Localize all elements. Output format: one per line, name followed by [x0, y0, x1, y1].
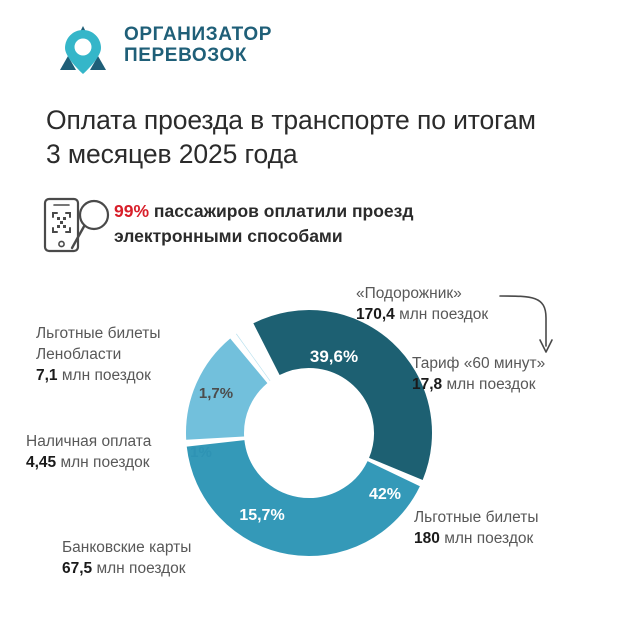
phone-qr-scan-icon: [42, 196, 114, 254]
segment-label-bankovskie-karty: 15,7%: [239, 507, 284, 524]
callout-bankovskie-karty: Банковские карты 67,5 млн поездок: [62, 538, 272, 580]
page-title-line-2: 3 месяцев 2025 года: [46, 138, 576, 172]
callout-lgotnye-value: 180 млн поездок: [414, 529, 614, 550]
brand-line-2: ПЕРЕВОЗОК: [124, 46, 272, 67]
callout-bank-karty-name: Банковские карты: [62, 538, 272, 559]
callout-nalichnaya-oplata: Наличная оплата 4,45 млн поездок: [26, 432, 216, 474]
callout-nalichnaya-unit: млн поездок: [60, 454, 149, 471]
callout-lgot-len-name-1: Льготные билеты: [36, 324, 226, 345]
callout-tarif-60-minut: Тариф «60 минут» 17,8 млн поездок: [412, 354, 612, 396]
subtitle-block: 99% пассажиров оплатили проезд электронн…: [42, 196, 562, 258]
callout-lgotnye-bilety-lenoblasti: Льготные билеты Ленобласти 7,1 млн поезд…: [36, 324, 226, 387]
callout-tarif60-unit: млн поездок: [446, 376, 535, 393]
callout-bank-karty-number: 67,5: [62, 560, 92, 577]
callout-bank-karty-unit: млн поездок: [96, 560, 185, 577]
brand-line-1: ОРГАНИЗАТОР: [124, 24, 272, 45]
callout-lgotnye-unit: млн поездок: [444, 530, 533, 547]
callout-lgot-len-number: 7,1: [36, 367, 58, 384]
callout-lgotnye-bilety: Льготные билеты 180 млн поездок: [414, 508, 614, 550]
infographic-canvas: ОРГАНИЗАТОР ПЕРЕВОЗОК Оплата проезда в т…: [0, 0, 617, 617]
page-title: Оплата проезда в транспорте по итогам 3 …: [46, 104, 576, 172]
callout-podorozhnik-number: 170,4: [356, 306, 395, 323]
callout-tarif60-name: Тариф «60 минут»: [412, 354, 612, 375]
subtitle-line-2: электронными способами: [114, 224, 554, 249]
brand-logo: ОРГАНИЗАТОР ПЕРЕВОЗОК: [52, 14, 312, 80]
callout-tarif60-value: 17,8 млн поездок: [412, 375, 612, 396]
callout-podorozhnik-unit: млн поездок: [399, 306, 488, 323]
callout-podorozhnik-name: «Подорожник»: [356, 284, 566, 305]
callout-lgot-len-name-2: Ленобласти: [36, 345, 226, 366]
callout-lgot-len-value: 7,1 млн поездок: [36, 366, 226, 387]
callout-tarif60-number: 17,8: [412, 376, 442, 393]
percent-highlight: 99%: [114, 201, 149, 221]
callout-lgotnye-number: 180: [414, 530, 440, 547]
callout-lgotnye-name: Льготные билеты: [414, 508, 614, 529]
map-pin-logo-icon: [52, 16, 114, 76]
callout-bank-karty-value: 67,5 млн поездок: [62, 559, 272, 580]
callout-nalichnaya-number: 4,45: [26, 454, 56, 471]
callout-nalichnaya-value: 4,45 млн поездок: [26, 453, 216, 474]
callout-podorozhnik: «Подорожник» 170,4 млн поездок: [356, 284, 566, 326]
callout-podorozhnik-value: 170,4 млн поездок: [356, 305, 566, 326]
callout-nalichnaya-name: Наличная оплата: [26, 432, 216, 453]
subtitle-text: 99% пассажиров оплатили проезд электронн…: [114, 199, 554, 249]
segment-label-podorozhnik: 39,6%: [310, 347, 358, 366]
callout-lgot-len-unit: млн поездок: [62, 367, 151, 384]
segment-label-lgotnye-bilety: 42%: [369, 486, 401, 503]
subtitle-line-1-rest: пассажиров оплатили проезд: [149, 201, 413, 221]
page-title-line-1: Оплата проезда в транспорте по итогам: [46, 104, 576, 138]
segment-label-lgotnye-lenoblasti: 1,7%: [199, 385, 233, 402]
brand-logo-text: ОРГАНИЗАТОР ПЕРЕВОЗОК: [124, 25, 272, 66]
